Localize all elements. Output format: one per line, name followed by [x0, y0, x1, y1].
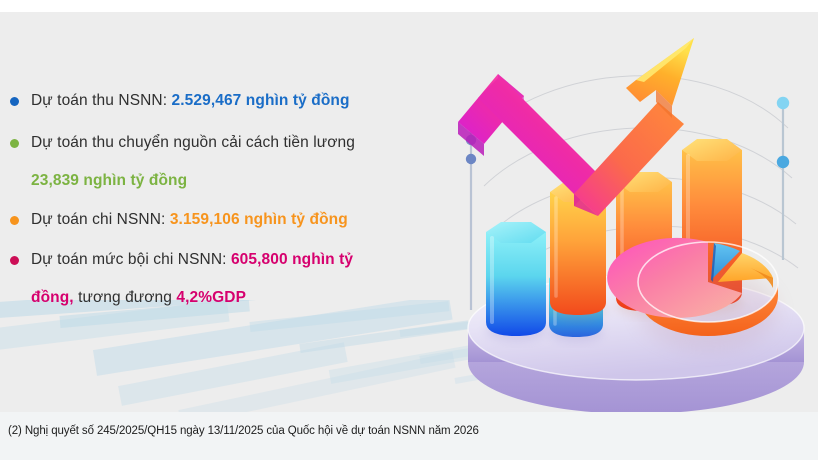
bullet-dot-thu-chuyen-nguon — [10, 139, 19, 148]
bullet-dot-boi-chi-nsnn — [10, 256, 19, 265]
bullet-item-thu-nsnn: Dự toán thu NSNN: 2.529,467 nghìn tỷ đồn… — [10, 90, 350, 111]
bullet-continuation-gdp: 4,2%GDP — [176, 289, 246, 306]
bullet-item-boi-chi-nsnn: Dự toán mức bội chi NSNN: 605,800 nghìn … — [10, 249, 353, 270]
accent-dot-right-lower — [777, 156, 789, 168]
bullet-value-thu-chuyen-nguon: 23,839 nghìn tỷ đồng — [31, 170, 187, 191]
bullet-label-thu-nsnn: Dự toán thu NSNN: — [31, 92, 172, 109]
bullet-label-boi-chi-nsnn: Dự toán mức bội chi NSNN: — [31, 251, 231, 268]
bullet-item-chi-nsnn: Dự toán chi NSNN: 3.159,106 nghìn tỷ đồn… — [10, 209, 348, 230]
bullet-label-chi-nsnn: Dự toán chi NSNN: — [31, 211, 170, 228]
accent-dot-right-upper — [777, 97, 789, 109]
bullet-continuation-value-boi-chi: đồng, — [31, 289, 74, 306]
bullet-dot-thu-nsnn — [10, 97, 19, 106]
bullet-continuation-label-boi-chi: tương đương — [74, 289, 177, 306]
bullet-continuation-boi-chi-nsnn: đồng, tương đương 4,2%GDP — [31, 287, 246, 308]
accent-dot-left-lower — [466, 154, 476, 164]
bullet-list: Dự toán thu NSNN: 2.529,467 nghìn tỷ đồn… — [0, 0, 470, 340]
bullet-value-chi-nsnn: 3.159,106 nghìn tỷ đồng — [170, 211, 348, 228]
slide-canvas: Dự toán thu NSNN: 2.529,467 nghìn tỷ đồn… — [0, 0, 818, 460]
bullet-label-thu-chuyen-nguon: Dự toán thu chuyển nguồn cải cách tiền l… — [31, 132, 355, 153]
footnote-text: (2) Nghị quyết số 245/2025/QH15 ngày 13/… — [8, 425, 479, 437]
bullet-value-boi-chi-nsnn: 605,800 nghìn tỷ — [231, 251, 353, 268]
bar-1 — [486, 222, 546, 341]
3d-growth-chart-illustration — [440, 10, 818, 430]
bullet-text-boi-chi-nsnn: Dự toán mức bội chi NSNN: 605,800 nghìn … — [31, 249, 353, 270]
bullet-text-thu-nsnn: Dự toán thu NSNN: 2.529,467 nghìn tỷ đồn… — [31, 90, 350, 111]
bullet-text-chi-nsnn: Dự toán chi NSNN: 3.159,106 nghìn tỷ đồn… — [31, 209, 348, 230]
bullet-item-thu-chuyen-nguon: Dự toán thu chuyển nguồn cải cách tiền l… — [10, 132, 355, 153]
bullet-value-thu-nsnn: 2.529,467 nghìn tỷ đồng — [172, 92, 350, 109]
bullet-dot-chi-nsnn — [10, 216, 19, 225]
